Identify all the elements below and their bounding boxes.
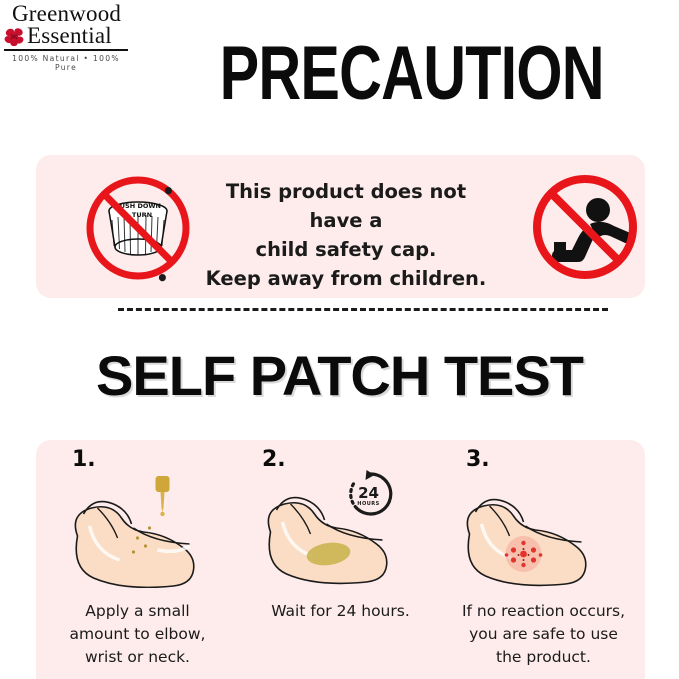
patch-test-step-2: 2. [239, 440, 442, 679]
precaution-bullet-1: • This product does not have a child saf… [196, 177, 496, 264]
step-3-caption-line1: If no reaction occurs, [445, 600, 642, 623]
no-children-icon [530, 172, 640, 287]
brand-logo: Greenwood Essential 100% N [4, 2, 128, 72]
brand-name-line2: Essential [27, 24, 112, 48]
patch-test-steps-panel: 1. [36, 440, 645, 679]
precaution-panel: PUSH DOWN & TURN • This product does not… [36, 155, 645, 298]
no-child-safety-cap-icon: PUSH DOWN & TURN [83, 175, 193, 286]
bullet-glyph-1: • [162, 177, 175, 206]
step-1-caption: Apply a small amount to elbow, wrist or … [39, 600, 236, 669]
precaution-heading: PRECAUTION [220, 36, 501, 112]
step-3-caption-line2: you are safe to use [445, 623, 642, 646]
precaution-bullet-2: • Keep away from children. [196, 264, 496, 293]
patch-test-step-3: 3. [442, 440, 645, 679]
precaution-infographic: Greenwood Essential 100% N [0, 0, 679, 679]
bullet-glyph-2: • [156, 264, 169, 293]
badge-number: 24 [358, 484, 379, 502]
precaution-bullet-list: • This product does not have a child saf… [196, 177, 496, 293]
brand-tagline: 100% Natural • 100% Pure [4, 54, 128, 72]
elbow-with-dropper-icon [36, 466, 239, 588]
badge-unit: HOURS [357, 501, 379, 507]
step-3-caption-line3: the product. [445, 646, 642, 669]
patch-test-step-1: 1. [36, 440, 239, 679]
step-2-caption-line1: Wait for 24 hours. [242, 600, 439, 623]
elbow-with-24-hour-clock-icon: 24 HOURS [239, 466, 442, 588]
step-1-caption-line3: wrist or neck. [39, 646, 236, 669]
brand-name-row2: Essential [4, 24, 128, 48]
step-2-caption: Wait for 24 hours. [242, 600, 439, 623]
section-divider [118, 308, 608, 311]
step-3-caption: If no reaction occurs, you are safe to u… [445, 600, 642, 669]
self-patch-test-heading: SELF PATCH TEST [0, 347, 679, 405]
precaution-bullet-2-line1: Keep away from children. [196, 264, 496, 293]
step-1-caption-line2: amount to elbow, [39, 623, 236, 646]
precaution-bullet-1-line2: child safety cap. [196, 235, 496, 264]
step-1-caption-line1: Apply a small [39, 600, 236, 623]
logo-divider [4, 49, 128, 51]
elbow-with-rash-icon [442, 466, 645, 588]
flower-icon [4, 27, 24, 46]
precaution-bullet-1-line1: This product does not have a [196, 177, 496, 235]
